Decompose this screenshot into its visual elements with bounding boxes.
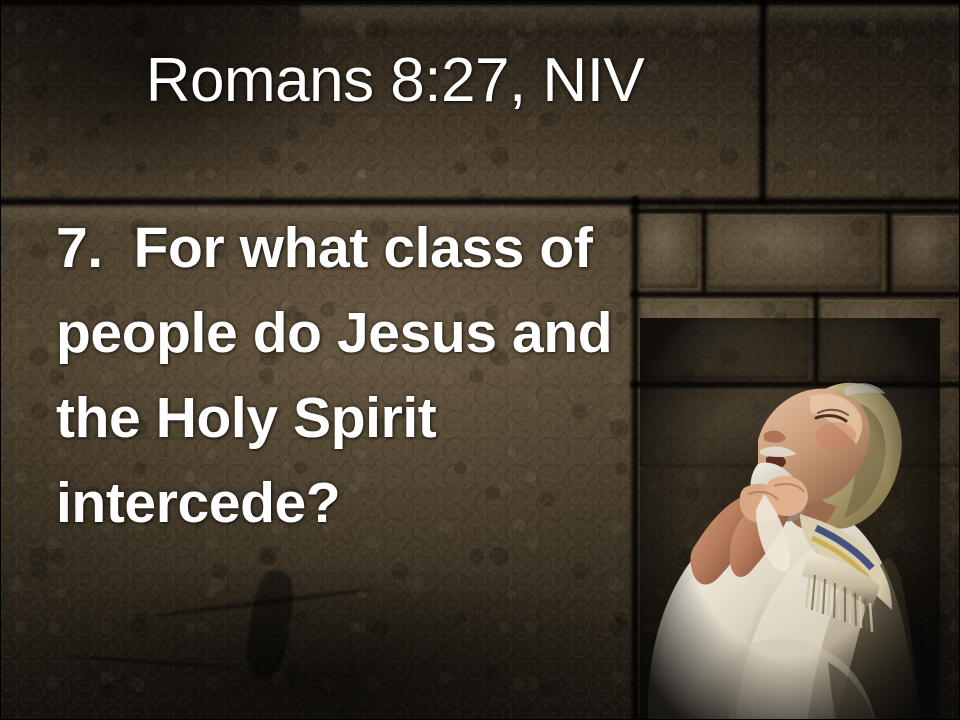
stone-block-r3 [892, 216, 960, 289]
slide-title: Romans 8:27, NIV [0, 48, 790, 113]
mortar-joint-vertical-3 [700, 210, 708, 292]
body-line-2: people do Jesus and [56, 291, 696, 376]
body-line-4: intercede? [56, 461, 696, 546]
stone-highlight-2 [300, 6, 760, 32]
stone-block-r2 [708, 215, 882, 289]
body-line-1: 7. For what class of [56, 206, 696, 291]
presentation-slide: Romans 8:27, NIV 7. For what class of pe… [0, 0, 960, 720]
stone-highlight-3 [768, 6, 960, 26]
wall-shadow-bottom [0, 560, 680, 720]
slide-body-text: 7. For what class of people do Jesus and… [56, 206, 696, 546]
body-line-3: the Holy Spirit [56, 376, 696, 461]
